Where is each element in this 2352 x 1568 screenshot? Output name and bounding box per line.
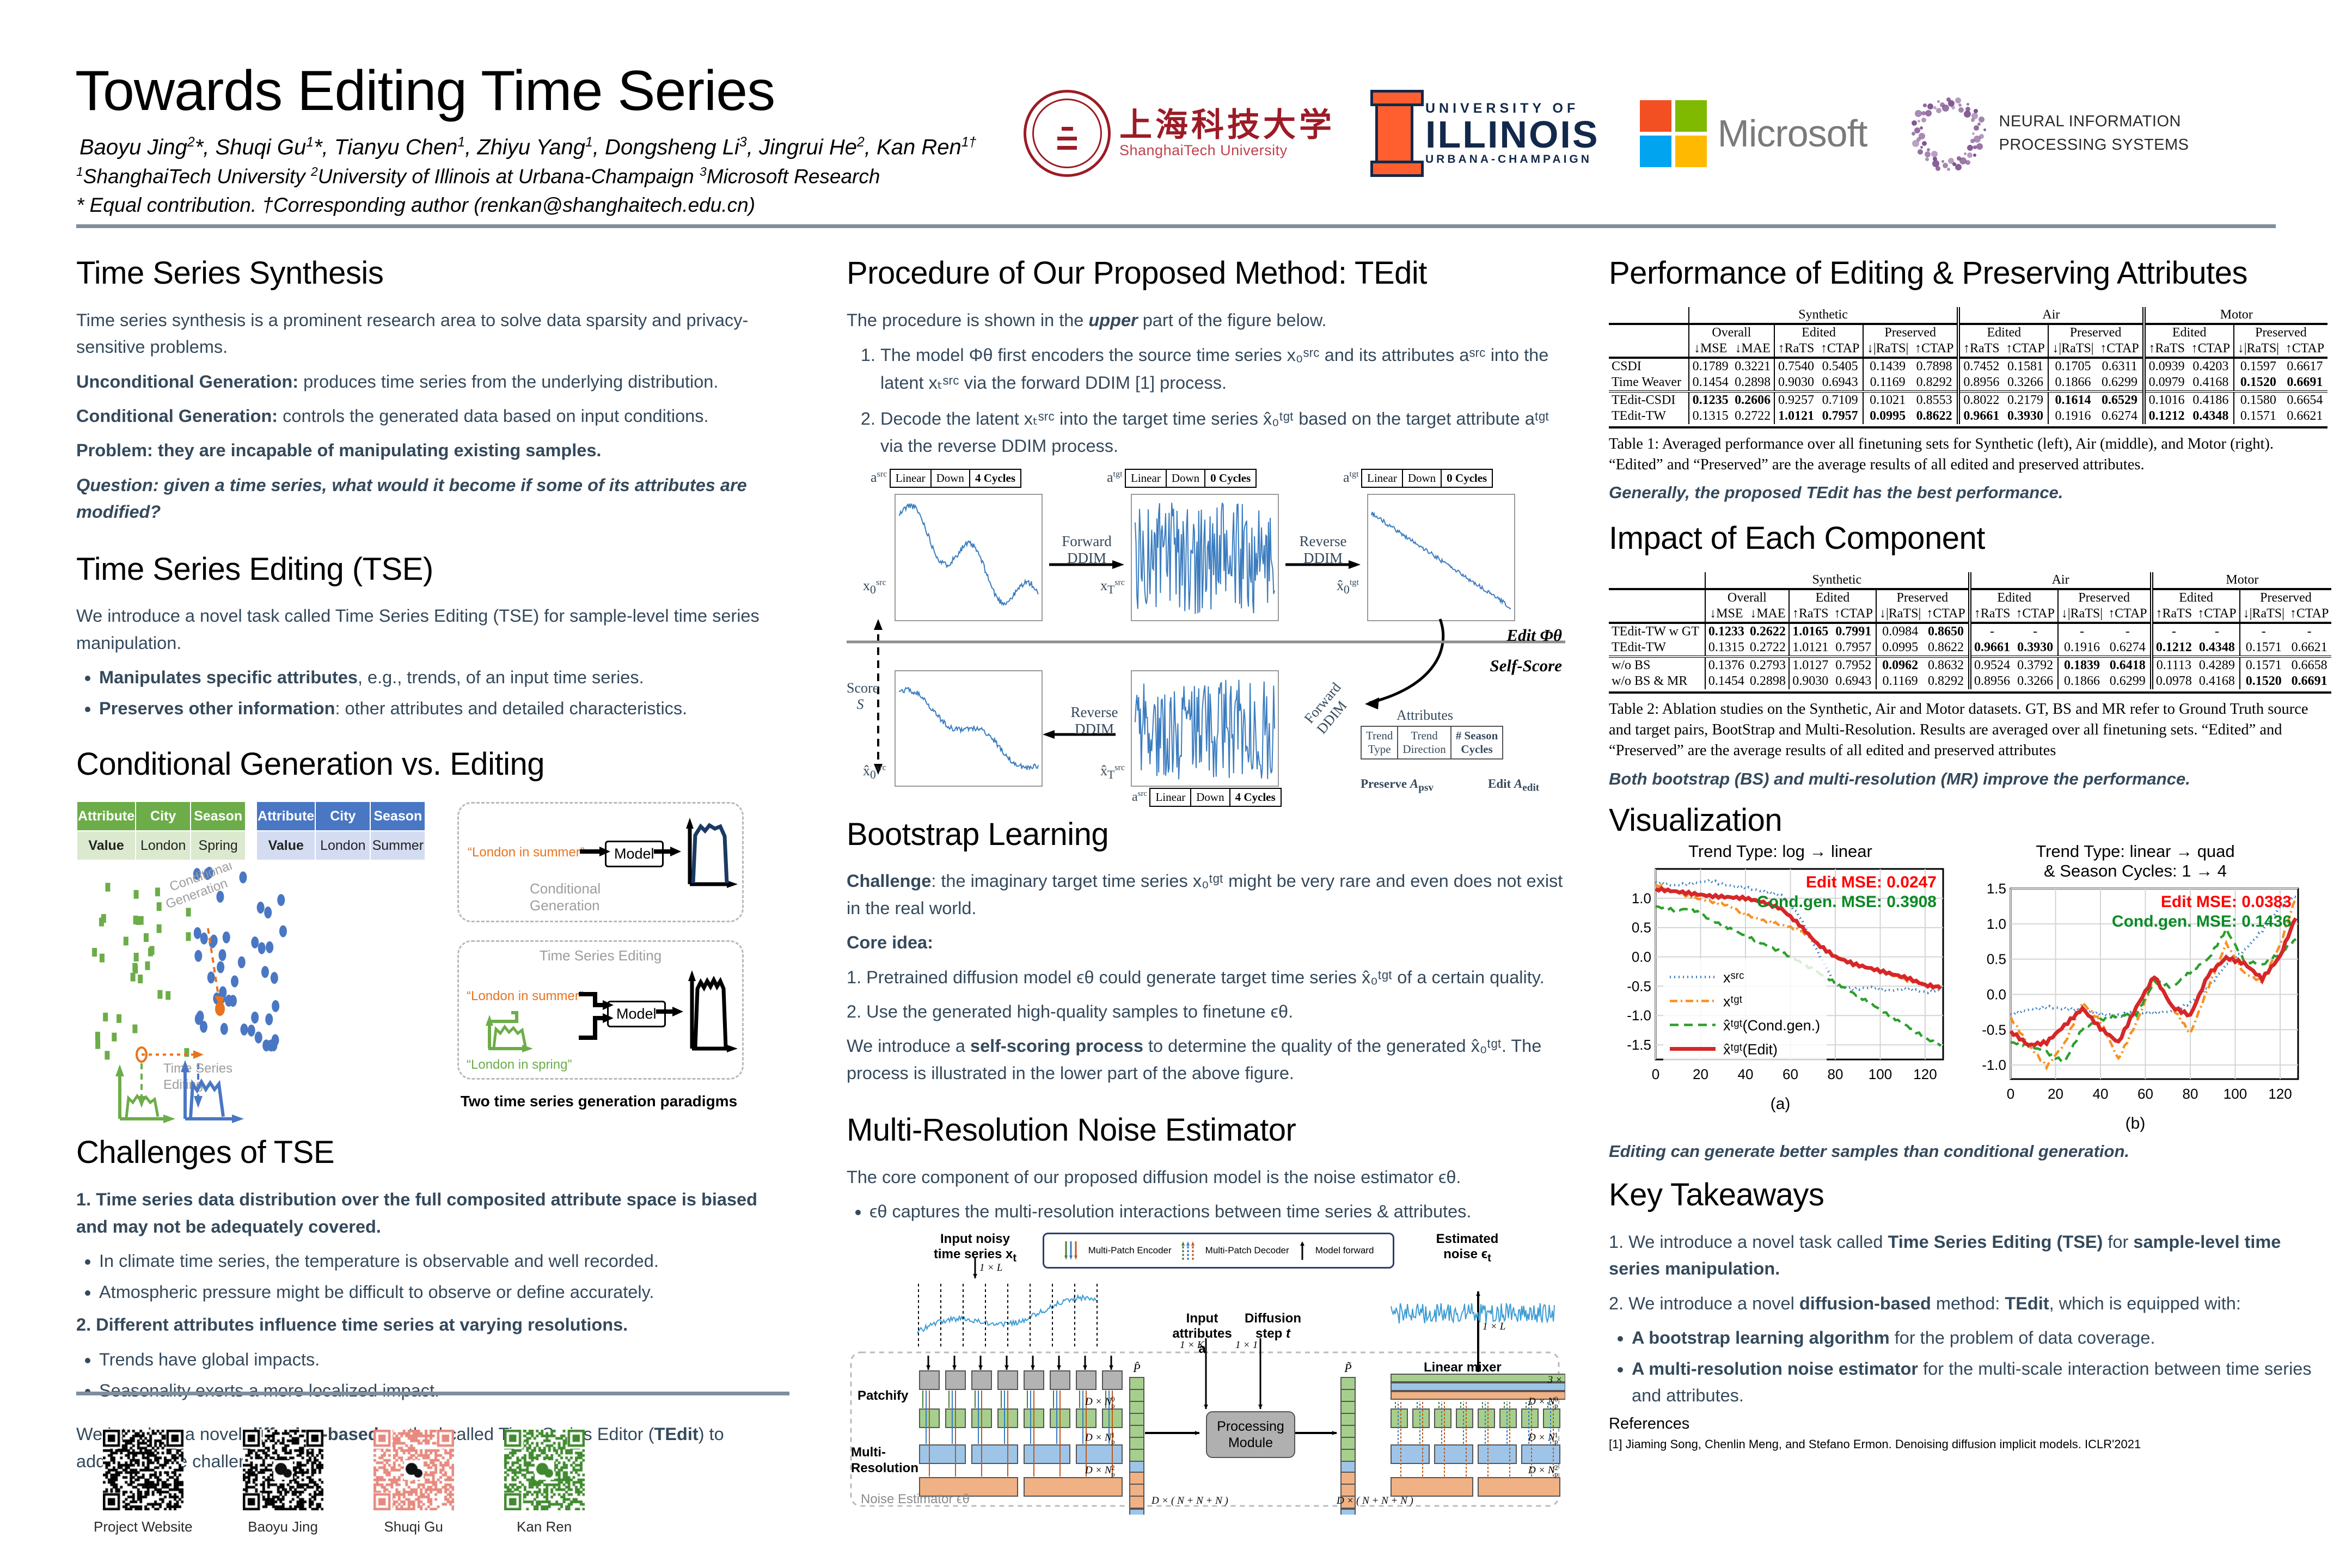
- qr-code-icon[interactable]: [103, 1430, 183, 1510]
- svg-text:120: 120: [2268, 1086, 2292, 1102]
- svg-text:Cond.gen. MSE: 0.1436: Cond.gen. MSE: 0.1436: [2112, 912, 2292, 930]
- svg-text:P̃: P̃: [1344, 1361, 1351, 1375]
- shanghaitech-seal-icon: [1024, 90, 1111, 177]
- affiliation-list: 1ShanghaiTech University 2University of …: [76, 164, 880, 188]
- svg-text:120: 120: [1913, 1066, 1937, 1082]
- svg-text:p: p: [1111, 1437, 1115, 1445]
- header-divider: [76, 224, 2276, 228]
- section-visualization: Visualization: [1609, 803, 2327, 838]
- svg-text:D × ( N + N + N ): D × ( N + N + N ): [1336, 1495, 1413, 1506]
- self-score-label: Self-Score: [1490, 656, 1562, 676]
- bootstrap-closing: We introduce a self-scoring process to d…: [847, 1033, 1565, 1087]
- plot-x0hat-src: [895, 670, 1043, 787]
- tse-bullet1-label: Manipulates specific attributes: [99, 667, 358, 687]
- tag-cell: Linear: [1150, 789, 1191, 806]
- page-title: Towards Editing Time Series: [75, 59, 775, 124]
- attr-tgt-v0: Value: [256, 831, 315, 860]
- bootstrap-core-2: 2. Use the generated high-quality sample…: [847, 999, 1565, 1025]
- qr-project-website[interactable]: Project Website: [94, 1430, 193, 1535]
- shanghaitech-name-en: ShanghaiTech University: [1119, 142, 1335, 159]
- attr-tgt-v1: London: [315, 831, 370, 860]
- challenge-1-bullets: In climate time series, the temperature …: [76, 1248, 789, 1306]
- svg-text:D × N: D × N: [1085, 1465, 1112, 1476]
- svg-text:60: 60: [2137, 1086, 2153, 1102]
- qr-code-icon[interactable]: [373, 1430, 454, 1510]
- chart-b: Trend Type: linear → quad& Season Cycles…: [1964, 842, 2307, 1133]
- bootstrap-core-label: Core idea:: [847, 929, 1565, 956]
- time-series-editing-box: Time Series Editing “London in summer” “…: [457, 940, 744, 1080]
- problem-line: Problem: they are incapable of manipulat…: [76, 437, 789, 464]
- bootstrap-core-1: 1. Pretrained diffusion model ϵθ could g…: [847, 964, 1565, 991]
- attribute-table-target: Attribute City Season Value London Summe…: [256, 801, 426, 861]
- kt-bullet1-label: A bootstrap learning algorithm: [1632, 1328, 1890, 1347]
- chart-b-plot: 020406080100120-1.0-0.50.00.51.01.5Edit …: [1964, 881, 2307, 1110]
- qr-baoyu-jing[interactable]: Baoyu Jing: [243, 1430, 323, 1535]
- neurips-line1: NEURAL INFORMATION: [1999, 110, 2189, 134]
- label-x0hat-src: x̂0src: [863, 763, 886, 782]
- attr-col-season-cycles: # SeasonCycles: [1451, 726, 1503, 759]
- qr-label: Baoyu Jing: [243, 1518, 323, 1535]
- svg-text:1.0: 1.0: [1632, 890, 1651, 906]
- attr-col-trend-direction: TrendDirection: [1398, 726, 1450, 759]
- tse-arrows: [459, 942, 742, 1078]
- architecture-figure: Input noisytime series xt Estimatednoise…: [847, 1232, 1565, 1515]
- microsoft-logo: Microsoft: [1640, 100, 1867, 167]
- section-conditional-vs-editing: Conditional Generation vs. Editing: [76, 747, 789, 782]
- svg-text:x̂ᵗᵍᵗ(Edit): x̂ᵗᵍᵗ(Edit): [1723, 1042, 1778, 1058]
- svg-text:D × N: D × N: [1085, 1396, 1112, 1407]
- bootstrap-challenge: Challenge: the imaginary target time ser…: [847, 868, 1565, 922]
- illinois-logo: UNIVERSITY OF ILLINOIS URBANA-CHAMPAIGN: [1375, 90, 1600, 177]
- procedure-steps: The model Φθ first encoders the source t…: [847, 341, 1565, 460]
- list-item: Atmospheric pressure might be difficult …: [99, 1279, 789, 1306]
- attr-tag-bottom-wrap: asrc Linear Down 4 Cycles: [1132, 788, 1282, 807]
- attr-src-v0: Value: [77, 831, 136, 860]
- svg-text:Edit MSE: 0.0247: Edit MSE: 0.0247: [1806, 873, 1937, 891]
- attr-tgt-h1: City: [315, 801, 370, 831]
- illinois-block-i-icon: [1375, 90, 1413, 177]
- qr-code-icon[interactable]: [243, 1430, 323, 1510]
- attr-tgt-v2: Summer: [370, 831, 425, 860]
- table2-caption: Table 2: Ablation studies on the Synthet…: [1609, 699, 2327, 762]
- bootstrap-challenge-text: : the imaginary target time series x₀ᵗᵍᵗ…: [847, 871, 1563, 917]
- attribute-table-source: Attribute City Season Value London Sprin…: [76, 801, 246, 861]
- arch-diffusion-step: Diffusionstep t: [1243, 1311, 1303, 1342]
- plot-xThat-src: [1131, 670, 1279, 787]
- svg-text:1 × L: 1 × L: [979, 1262, 1002, 1273]
- attributes-table: TrendType TrendDirection # SeasonCycles: [1361, 726, 1503, 759]
- paradigm-figure-caption: Two time series generation paradigms: [457, 1093, 740, 1110]
- svg-text:100: 100: [1869, 1066, 1892, 1082]
- svg-text:-1.5: -1.5: [1627, 1037, 1651, 1053]
- tse-bullet1-text: , e.g., trends, of an input time series.: [358, 667, 644, 687]
- core-idea-label: Core idea:: [847, 933, 933, 952]
- table-performance: SyntheticAirMotorOverallEditedPreservedE…: [1609, 307, 2327, 428]
- qr-code-row: Project Website Baoyu Jing Shuqi Gu Kan …: [94, 1430, 585, 1535]
- list-item: Manipulates specific attributes, e.g., t…: [99, 664, 789, 691]
- svg-text:1.5: 1.5: [1987, 881, 2006, 897]
- svg-text:20: 20: [1693, 1066, 1708, 1082]
- svg-text:p: p: [1111, 1470, 1115, 1478]
- poster-header: Towards Editing Time Series Baoyu Jing2*…: [0, 0, 2352, 229]
- svg-text:D × N: D × N: [1528, 1432, 1555, 1443]
- kt1-tse: Time Series Editing (TSE): [1888, 1232, 2103, 1252]
- table2-highlight: Both bootstrap (BS) and multi-resolution…: [1609, 769, 2327, 789]
- list-item: A bootstrap learning algorithm for the p…: [1632, 1325, 2327, 1351]
- list-item: Seasonality exerts a more localized impa…: [99, 1377, 789, 1404]
- qr-label: Kan Ren: [504, 1518, 585, 1535]
- noise-estimator-intro: The core component of our proposed diffu…: [847, 1164, 1565, 1191]
- kt-bullet1-text: for the problem of data coverage.: [1890, 1328, 2155, 1347]
- challenge-1-text: 1. Time series data distribution over th…: [76, 1190, 757, 1236]
- reference-item-1: [1] Jiaming Song, Chenlin Meng, and Stef…: [1609, 1437, 2327, 1451]
- chart-a-title: Trend Type: log → linear: [1609, 842, 1952, 861]
- kt2-e: , which is equipped with:: [2049, 1294, 2241, 1313]
- edit-attr-label: Edit Aedit: [1488, 777, 1539, 794]
- microsoft-squares-icon: [1640, 100, 1707, 167]
- qr-divider: [76, 1392, 789, 1395]
- closing-a: We introduce a: [847, 1036, 970, 1056]
- procedure-intro-c: part of the figure below.: [1138, 310, 1327, 330]
- label-xThat-src: x̂Tsrc: [1100, 763, 1125, 782]
- chart-a-subcaption: (a): [1609, 1095, 1952, 1113]
- qr-code-icon[interactable]: [504, 1430, 585, 1510]
- procedure-intro-a: The procedure is shown in the: [847, 310, 1088, 330]
- arch-processing-module: ProcessingModule: [1206, 1411, 1295, 1458]
- svg-text:3 × L: 3 × L: [1547, 1374, 1565, 1386]
- closing-bold-2: TEdit: [654, 1424, 698, 1444]
- attr-tgt-h2: Season: [370, 801, 425, 831]
- column-left: Time Series Synthesis Time series synthe…: [76, 256, 789, 1483]
- attr-tag-bottom: Linear Down 4 Cycles: [1149, 788, 1281, 807]
- section-key-takeaways: Key Takeaways: [1609, 1178, 2327, 1212]
- svg-text:p: p: [1554, 1401, 1558, 1410]
- logo-strip: 上海科技大学 ShanghaiTech University UNIVERSIT…: [1024, 76, 2308, 191]
- svg-text:0: 0: [1652, 1066, 1659, 1082]
- challenge-2-text: 2. Different attributes influence time s…: [76, 1315, 628, 1334]
- svg-text:0: 0: [2007, 1086, 2014, 1102]
- reverse-ddim-label-2: ReverseDDIM: [1059, 704, 1130, 738]
- list-item: A multi-resolution noise estimator for t…: [1632, 1356, 2327, 1409]
- svg-text:-0.5: -0.5: [1982, 1021, 2006, 1038]
- preserve-label: Preserve Apsv: [1361, 777, 1434, 794]
- noise-estimator-bullets: ϵθ captures the multi-resolution interac…: [847, 1198, 1565, 1225]
- list-item: The model Φθ first encoders the source t…: [880, 341, 1565, 396]
- svg-text:P̂: P̂: [1132, 1361, 1140, 1375]
- qr-label: Shuqi Gu: [373, 1518, 454, 1535]
- section-time-series-editing: Time Series Editing (TSE): [76, 552, 789, 587]
- svg-text:-0.5: -0.5: [1627, 978, 1651, 995]
- takeaway-bullets: A bootstrap learning algorithm for the p…: [1609, 1325, 2327, 1408]
- question-line: Question: given a time series, what woul…: [76, 472, 789, 526]
- illinois-wordmark: ILLINOIS: [1425, 117, 1600, 153]
- svg-text:D × N: D × N: [1085, 1432, 1112, 1443]
- list-item: ϵθ captures the multi-resolution interac…: [869, 1198, 1565, 1225]
- conditional-generation-line: Conditional Generation: controls the gen…: [76, 403, 789, 430]
- visualization-charts: Trend Type: log → linear 020406080100120…: [1609, 842, 2327, 1133]
- attr-src-h2: Season: [191, 801, 246, 831]
- svg-text:D × N: D × N: [1528, 1396, 1555, 1407]
- table1-caption: Table 1: Averaged performance over all f…: [1609, 434, 2327, 475]
- section-bootstrap-learning: Bootstrap Learning: [847, 817, 1565, 852]
- svg-text:p: p: [1111, 1401, 1115, 1410]
- shanghaitech-name-cn: 上海科技大学: [1119, 108, 1335, 142]
- problem-label: Problem:: [76, 440, 153, 460]
- tag-cell: 4 Cycles: [1230, 789, 1281, 806]
- attr-src-h1: City: [136, 801, 191, 831]
- arch-noise-estimator-label: Noise Estimator ϵθ: [861, 1492, 970, 1507]
- visualization-highlight: Editing can generate better samples than…: [1609, 1142, 2327, 1161]
- table-ablation: SyntheticAirMotorOverallEditedPreservedE…: [1609, 572, 2331, 694]
- paradigm-figure: Attribute City Season Value London Sprin…: [76, 798, 789, 1135]
- arch-linear-mixer: Linear mixer: [1424, 1360, 1502, 1375]
- qr-label: Project Website: [94, 1518, 193, 1535]
- illinois-campus: URBANA-CHAMPAIGN: [1425, 153, 1600, 166]
- section-time-series-synthesis: Time Series Synthesis: [76, 256, 789, 291]
- attr-src-h0: Attribute: [77, 801, 136, 831]
- section-challenges: Challenges of TSE: [76, 1135, 789, 1170]
- self-scoring-label: self-scoring process: [970, 1036, 1143, 1056]
- unconditional-generation-label: Unconditional Generation:: [76, 372, 298, 391]
- chart-a: Trend Type: log → linear 020406080100120…: [1609, 842, 1952, 1133]
- question-text: Question: given a time series, what woul…: [76, 475, 747, 522]
- author-list: Baoyu Jing2*, Shuqi Gu1*, Tianyu Chen1, …: [79, 135, 976, 160]
- tedit-procedure-figure: asrc Linear Down 4 Cycles atgt Linear Do…: [847, 469, 1565, 817]
- unconditional-generation-line: Unconditional Generation: produces time …: [76, 369, 789, 395]
- svg-text:80: 80: [2183, 1086, 2198, 1102]
- neurips-logo: NEURAL INFORMATION PROCESSING SYSTEMS: [1908, 93, 2189, 174]
- qr-kan-ren[interactable]: Kan Ren: [504, 1430, 585, 1535]
- svg-text:D × ( N + N + N ): D × ( N + N + N ): [1151, 1495, 1228, 1506]
- chart-a-plot: 020406080100120-1.5-1.0-0.50.00.51.0Edit…: [1609, 861, 1952, 1090]
- section-impact: Impact of Each Component: [1609, 521, 2327, 556]
- tag-cell: Down: [1191, 789, 1230, 806]
- list-item: Preserves other information: other attri…: [99, 695, 789, 722]
- svg-text:Time Series: Time Series: [163, 1061, 232, 1076]
- svg-text:60: 60: [1783, 1066, 1798, 1082]
- list-item: Decode the latent xₜˢʳᶜ into the target …: [880, 405, 1565, 460]
- takeaway-1: 1. We introduce a novel task called Time…: [1609, 1229, 2327, 1283]
- svg-text:Edit MSE: 0.0383: Edit MSE: 0.0383: [2161, 893, 2292, 911]
- kt1-a: 1. We introduce a novel task called: [1609, 1232, 1888, 1252]
- procedure-intro-upper: upper: [1088, 310, 1137, 330]
- takeaway-2: 2. We introduce a novel diffusion-based …: [1609, 1290, 2327, 1317]
- poster-root: Towards Editing Time Series Baoyu Jing2*…: [0, 0, 2352, 1568]
- challenge-1: 1. Time series data distribution over th…: [76, 1186, 789, 1240]
- section-performance: Performance of Editing & Preserving Attr…: [1609, 256, 2327, 291]
- attributes-title: Attributes: [1396, 707, 1453, 724]
- table1-highlight: Generally, the proposed TEdit has the be…: [1609, 483, 2327, 503]
- column-middle: Procedure of Our Proposed Method: TEdit …: [847, 256, 1565, 1515]
- microsoft-wordmark: Microsoft: [1718, 112, 1867, 155]
- svg-text:-1.0: -1.0: [1627, 1008, 1651, 1024]
- section-noise-estimator: Multi-Resolution Noise Estimator: [847, 1113, 1565, 1148]
- arch-patchify-label: Patchify: [857, 1388, 908, 1404]
- chart-b-subcaption: (b): [1964, 1114, 2307, 1133]
- list-item: Trends have global impacts.: [99, 1346, 789, 1373]
- score-label: ScoreS: [847, 680, 874, 713]
- svg-text:D × N: D × N: [1528, 1465, 1555, 1476]
- svg-text:0.0: 0.0: [1987, 987, 2006, 1003]
- bootstrap-challenge-label: Challenge: [847, 871, 931, 891]
- svg-text:100: 100: [2224, 1086, 2247, 1102]
- kt2-a: 2. We introduce a novel: [1609, 1294, 1799, 1313]
- edit-phi-label: Edit Φθ: [1506, 626, 1562, 645]
- svg-text:40: 40: [2093, 1086, 2109, 1102]
- attr-src-v2: Spring: [191, 831, 246, 860]
- conditional-generation-text: controls the generated data based on inp…: [278, 406, 708, 426]
- svg-text:1.0: 1.0: [1987, 916, 2006, 932]
- svg-text:0.5: 0.5: [1632, 920, 1651, 936]
- svg-text:0.0: 0.0: [1632, 949, 1651, 965]
- kt1-c: for: [2103, 1232, 2133, 1252]
- kt-bullet2-label: A multi-resolution noise estimator: [1632, 1359, 1918, 1379]
- unconditional-generation-text: produces time series from the underlying…: [298, 372, 718, 391]
- neurips-dots-icon: [1908, 93, 1989, 174]
- svg-text:Cond.gen. MSE: 0.3908: Cond.gen. MSE: 0.3908: [1757, 893, 1937, 911]
- kt2-diffusion: diffusion-based: [1799, 1294, 1931, 1313]
- problem-text: they are incapable of manipulating exist…: [153, 440, 602, 460]
- tse-intro: We introduce a novel task called Time Se…: [76, 603, 789, 657]
- attr-src-v1: London: [136, 831, 191, 860]
- latent-space-scatter: Time Series Editing Conditional Generati…: [76, 863, 425, 1135]
- svg-text:-1.0: -1.0: [1982, 1057, 2006, 1073]
- references-heading: References: [1609, 1415, 2327, 1433]
- neurips-line2: PROCESSING SYSTEMS: [1999, 133, 2189, 157]
- procedure-intro: The procedure is shown in the upper part…: [847, 307, 1565, 334]
- conditional-generation-box: Conditional Generation “London in summer…: [457, 802, 744, 922]
- svg-text:20: 20: [2048, 1086, 2063, 1102]
- svg-text:80: 80: [1828, 1066, 1843, 1082]
- tse-bullet2-label: Preserves other information: [99, 699, 335, 718]
- svg-text:xˢʳᶜ: xˢʳᶜ: [1723, 970, 1744, 986]
- synthesis-intro: Time series synthesis is a prominent res…: [76, 307, 789, 361]
- chart-b-title: Trend Type: linear → quad& Season Cycles…: [1964, 842, 2307, 881]
- tse-bullet2-text: : other attributes and detailed characte…: [335, 699, 687, 718]
- svg-text:0.5: 0.5: [1987, 951, 2006, 967]
- list-item: In climate time series, the temperature …: [99, 1248, 789, 1275]
- column-right: Performance of Editing & Preserving Attr…: [1609, 256, 2327, 1451]
- svg-text:xᵗᵍᵗ: xᵗᵍᵗ: [1723, 994, 1743, 1010]
- cond-gen-arrows: [459, 804, 742, 921]
- svg-text:40: 40: [1738, 1066, 1754, 1082]
- svg-text:p: p: [1554, 1437, 1558, 1445]
- section-procedure: Procedure of Our Proposed Method: TEdit: [847, 256, 1565, 291]
- svg-text:x̂ᵗᵍᵗ(Cond.gen.): x̂ᵗᵍᵗ(Cond.gen.): [1723, 1018, 1820, 1034]
- conditional-generation-label: Conditional Generation:: [76, 406, 278, 426]
- svg-text:p: p: [1554, 1470, 1558, 1478]
- attr-tgt-h0: Attribute: [256, 801, 315, 831]
- shanghaitech-logo: 上海科技大学 ShanghaiTech University: [1024, 90, 1335, 177]
- attr-col-trend-type: TrendType: [1361, 726, 1398, 759]
- challenge-2: 2. Different attributes influence time s…: [76, 1312, 789, 1338]
- arch-multires-label: Multi-Resolution: [851, 1445, 918, 1477]
- kt2-tedit: TEdit: [2005, 1294, 2049, 1313]
- qr-shuqi-gu[interactable]: Shuqi Gu: [373, 1430, 454, 1535]
- tse-bullet-list: Manipulates specific attributes, e.g., t…: [76, 664, 789, 722]
- arch-input-attributes: Inputattributes a: [1172, 1311, 1232, 1357]
- equal-contribution-note: * Equal contribution. †Corresponding aut…: [76, 194, 755, 217]
- kt2-c: method:: [1931, 1294, 2005, 1313]
